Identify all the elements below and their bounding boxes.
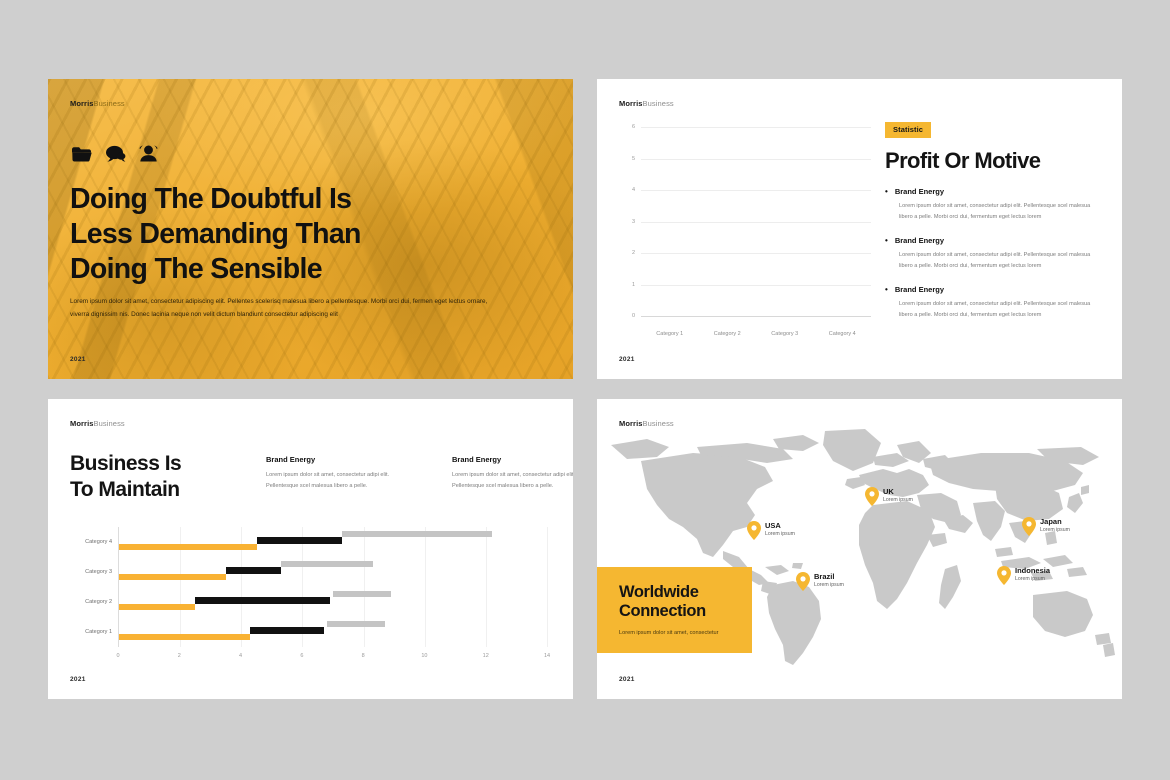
range-bar-segment [119, 604, 195, 611]
card-title-line-1: Worldwide [619, 583, 699, 601]
x-axis-tick-label: Category 3 [762, 331, 808, 337]
slide-2-content: Statistic Profit Or Motive •Brand Energy… [885, 119, 1099, 333]
text-column: Brand EnergyLorem ipsum dolor sit amet, … [266, 455, 396, 493]
x-axis-tick-label: 6 [300, 653, 303, 659]
range-bar-segment [327, 621, 385, 628]
brand-logo-light: Business [643, 99, 674, 108]
map-pin-label: JapanLorem ipsum [1040, 517, 1070, 533]
page-title: Business Is To Maintain [70, 451, 270, 504]
bar-chart-plot-area: 0123456 [641, 127, 871, 317]
slide-1-year-footer: 2021 [70, 356, 86, 363]
bullet-body-text: Lorem ipsum dolor sit amet, consectetur … [899, 201, 1099, 224]
range-bar-segment [119, 634, 250, 641]
location-pin-icon [997, 566, 1011, 590]
map-pin[interactable]: JapanLorem ipsum [1022, 517, 1070, 541]
card-subtitle: Lorem ipsum dolor sit amet, consectetur [619, 629, 738, 637]
map-pin-subtitle: Lorem ipsum [765, 531, 795, 537]
gridline [641, 253, 871, 254]
slide-1-body-text: Lorem ipsum dolor sit amet, consectetur … [70, 296, 500, 322]
slide-3-year-footer: 2021 [70, 676, 86, 683]
slide-3-business[interactable]: MorrisBusiness Business Is To Maintain B… [48, 399, 573, 699]
range-bar-segment [119, 574, 226, 581]
range-bar-row: Category 3 [119, 557, 547, 587]
gridline [641, 285, 871, 286]
x-axis-tick-label: Category 4 [819, 331, 865, 337]
column-heading: Brand Energy [452, 455, 573, 464]
x-axis-tick-label: 12 [483, 653, 489, 659]
map-pin[interactable]: IndonesiaLorem ipsum [997, 566, 1050, 590]
bullet-item: •Brand EnergyLorem ipsum dolor sit amet,… [885, 236, 1099, 273]
x-axis-tick-label: Category 2 [704, 331, 750, 337]
map-pin-country: USA [765, 521, 795, 530]
y-axis-tick-label: Category 4 [85, 539, 112, 545]
brand-logo: MorrisBusiness [619, 99, 674, 108]
brand-logo-bold: Morris [619, 99, 643, 108]
worldwide-connection-card: Worldwide Connection Lorem ipsum dolor s… [597, 567, 752, 653]
bullet-dot-icon: • [885, 188, 888, 196]
horizontal-range-bar-chart: Category 1Category 2Category 3Category 4… [66, 527, 555, 667]
x-axis-tick-label: 10 [421, 653, 427, 659]
map-pin-subtitle: Lorem ipsum [883, 497, 913, 503]
x-axis-tick-label: 14 [544, 653, 550, 659]
text-column: Brand EnergyLorem ipsum dolor sit amet, … [452, 455, 573, 493]
slide-3-title-line-1: Business Is [70, 451, 270, 477]
bullet-dot-icon: • [885, 237, 888, 245]
bullet-heading-text: Brand Energy [895, 285, 944, 294]
range-bar-plot-area: Category 1Category 2Category 3Category 4 [118, 527, 547, 647]
vertical-bar-chart: 0123456 Category 1Category 2Category 3Ca… [615, 127, 877, 339]
brand-logo: MorrisBusiness [70, 419, 125, 428]
map-pin[interactable]: UKLorem ipsum [865, 487, 913, 511]
x-axis-tick-label: 2 [178, 653, 181, 659]
status-badge: Statistic [885, 122, 931, 138]
location-pin-icon [747, 521, 761, 545]
range-bar-segment [342, 531, 492, 538]
map-pin-country: UK [883, 487, 913, 496]
range-bar-row: Category 1 [119, 617, 547, 647]
slide-2-year-footer: 2021 [619, 356, 635, 363]
location-pin-icon [796, 572, 810, 596]
y-axis-tick-label: 6 [632, 124, 635, 130]
column-heading: Brand Energy [266, 455, 396, 464]
gridline [641, 222, 871, 223]
x-axis-tick-label: 8 [362, 653, 365, 659]
slide-3-text-columns: Brand EnergyLorem ipsum dolor sit amet, … [266, 455, 573, 493]
bullet-body-text: Lorem ipsum dolor sit amet, consectetur … [899, 250, 1099, 273]
gridline [641, 127, 871, 128]
bar-chart-x-axis-labels: Category 1Category 2Category 3Category 4 [641, 331, 871, 337]
bullet-heading-text: Brand Energy [895, 236, 944, 245]
gridline [547, 527, 548, 647]
map-pin[interactable]: USALorem ipsum [747, 521, 795, 545]
bullet-body-text: Lorem ipsum dolor sit amet, consectetur … [899, 299, 1099, 322]
y-axis-tick-label: 5 [632, 156, 635, 162]
map-pin-subtitle: Lorem ipsum [814, 582, 844, 588]
map-pin[interactable]: BrazilLorem ipsum [796, 572, 844, 596]
y-axis-tick-label: 0 [632, 313, 635, 319]
range-bar-segment [257, 537, 343, 544]
y-axis-tick-label: 3 [632, 219, 635, 225]
brand-logo: MorrisBusiness [70, 99, 125, 108]
map-pin-subtitle: Lorem ipsum [1040, 527, 1070, 533]
slide-1-headline-line-1: Doing The Doubtful Is [70, 182, 490, 217]
column-body-text: Lorem ipsum dolor sit amet, consectetur … [452, 470, 573, 493]
slide-deck-preview: MorrisBusiness Doing The Doubtful Is Les… [0, 0, 1170, 780]
slide-1-title[interactable]: MorrisBusiness Doing The Doubtful Is Les… [48, 79, 573, 379]
map-pin-country: Brazil [814, 572, 844, 581]
range-bar-segment [226, 567, 281, 574]
slide-1-icon-row [71, 145, 158, 162]
slide-4-worldwide[interactable]: MorrisBusiness [597, 399, 1122, 699]
location-pin-icon [865, 487, 879, 511]
y-axis-tick-label: Category 1 [85, 629, 112, 635]
bullet-heading: •Brand Energy [885, 236, 1099, 245]
range-bar-x-axis-labels: 02468101214 [118, 653, 547, 665]
map-pin-label: USALorem ipsum [765, 521, 795, 537]
gridline [641, 190, 871, 191]
folder-icon [71, 146, 92, 162]
y-axis-tick-label: Category 2 [85, 599, 112, 605]
column-body-text: Lorem ipsum dolor sit amet, consectetur … [266, 470, 396, 493]
card-title-line-2: Connection [619, 602, 706, 620]
location-pin-icon [1022, 517, 1036, 541]
bullet-heading: •Brand Energy [885, 187, 1099, 196]
y-axis-tick-label: 4 [632, 187, 635, 193]
y-axis-tick-label: Category 3 [85, 569, 112, 575]
chat-bubble-icon [105, 145, 126, 162]
card-title: Worldwide Connection [619, 583, 738, 622]
bullet-heading-text: Brand Energy [895, 187, 944, 196]
range-bar-segment [250, 627, 323, 634]
brand-logo-light: Business [94, 419, 125, 428]
brand-logo-bold: Morris [70, 99, 94, 108]
range-bar-segment [281, 561, 373, 568]
slide-3-title-line-2: To Maintain [70, 477, 270, 503]
brand-logo-light: Business [94, 99, 125, 108]
y-axis-tick-label: 2 [632, 250, 635, 256]
y-axis-tick-label: 1 [632, 282, 635, 288]
slide-4-year-footer: 2021 [619, 676, 635, 683]
range-bar-row: Category 4 [119, 527, 547, 557]
range-bar-segment [119, 544, 257, 551]
bullet-list: •Brand EnergyLorem ipsum dolor sit amet,… [885, 187, 1099, 322]
x-axis-tick-label: 0 [116, 653, 119, 659]
slide-2-statistic[interactable]: MorrisBusiness 0123456 Category 1Categor… [597, 79, 1122, 379]
slide-1-headline: Doing The Doubtful Is Less Demanding Tha… [70, 182, 490, 286]
bullet-item: •Brand EnergyLorem ipsum dolor sit amet,… [885, 285, 1099, 322]
slide-1-headline-line-3: Doing The Sensible [70, 252, 490, 287]
page-title: Profit Or Motive [885, 149, 1099, 173]
x-axis-tick-label: 4 [239, 653, 242, 659]
map-pin-country: Japan [1040, 517, 1070, 526]
map-pin-label: BrazilLorem ipsum [814, 572, 844, 588]
bullet-heading: •Brand Energy [885, 285, 1099, 294]
range-bar-segment [195, 597, 330, 604]
bullet-dot-icon: • [885, 286, 888, 294]
range-bar-row: Category 2 [119, 587, 547, 617]
x-axis-tick-label: Category 1 [647, 331, 693, 337]
bullet-item: •Brand EnergyLorem ipsum dolor sit amet,… [885, 187, 1099, 224]
gridline [641, 159, 871, 160]
slide-1-headline-line-2: Less Demanding Than [70, 217, 490, 252]
map-pin-label: IndonesiaLorem ipsum [1015, 566, 1050, 582]
user-icon [139, 145, 158, 162]
map-pin-country: Indonesia [1015, 566, 1050, 575]
map-pin-label: UKLorem ipsum [883, 487, 913, 503]
map-pin-subtitle: Lorem ipsum [1015, 576, 1050, 582]
range-bar-segment [333, 591, 391, 598]
brand-logo-bold: Morris [70, 419, 94, 428]
